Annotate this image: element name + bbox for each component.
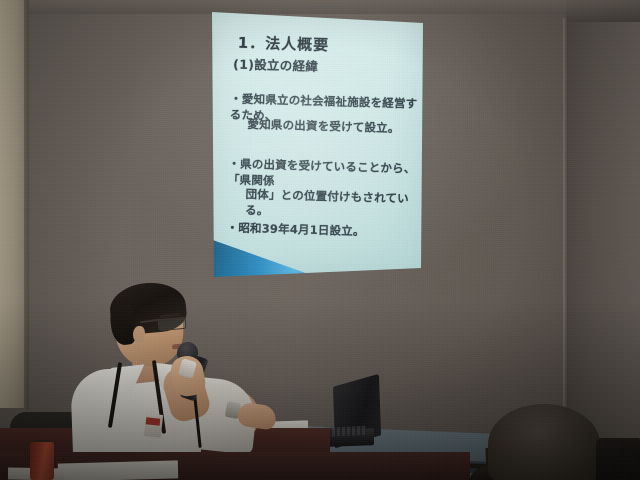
name-badge-accent (146, 417, 161, 425)
bullet-marker-1: ・ (230, 92, 242, 106)
bullet-text-3a: 昭和39年4月1日設立。 (238, 221, 365, 239)
bullet-marker-3: ・ (226, 220, 238, 234)
photo-scene: 1．法人概要 (1)設立の経緯 ・愛知県立の社会福祉施設を経営するため、 愛知県… (0, 0, 640, 480)
paper-documents (58, 460, 178, 480)
bullet-text-2a: 県の出資を受けていることから、「県関係 (228, 157, 416, 188)
slide-title: 1．法人概要 (238, 32, 330, 56)
glasses-icon (158, 317, 187, 331)
projection-screen-area: 1．法人概要 (1)設立の経緯 ・愛知県立の社会福祉施設を経営するため、 愛知県… (211, 6, 425, 281)
projected-slide: 1．法人概要 (1)設立の経緯 ・愛知県立の社会福祉施設を経営するため、 愛知県… (211, 6, 425, 281)
bullet-marker-2: ・ (228, 157, 240, 171)
right-wall-column (566, 0, 640, 480)
right-column-top (566, 0, 640, 22)
slide-bullet-3-line-1: ・昭和39年4月1日設立。 (226, 219, 365, 239)
slide-subtitle: (1)設立の経緯 (233, 54, 319, 75)
slide-bullet-1-line-2: 愛知県の出資を受けて設立。 (247, 116, 399, 136)
ceiling (0, 0, 640, 14)
slide-bullet-2-line-2: 団体」との位置付けもされている。 (245, 186, 424, 223)
presenter-ear (133, 326, 145, 343)
slide-text-layer: 1．法人概要 (1)設立の経緯 ・愛知県立の社会福祉施設を経営するため、 愛知県… (207, 3, 429, 284)
audience-member-head (488, 404, 600, 480)
drinking-glass (30, 442, 54, 480)
left-pillar (0, 0, 26, 408)
audience-chair (596, 438, 640, 480)
left-pillar-edge (24, 0, 29, 410)
slide-content: 1．法人概要 (1)設立の経緯 ・愛知県立の社会福祉施設を経営するため、 愛知県… (207, 3, 429, 284)
